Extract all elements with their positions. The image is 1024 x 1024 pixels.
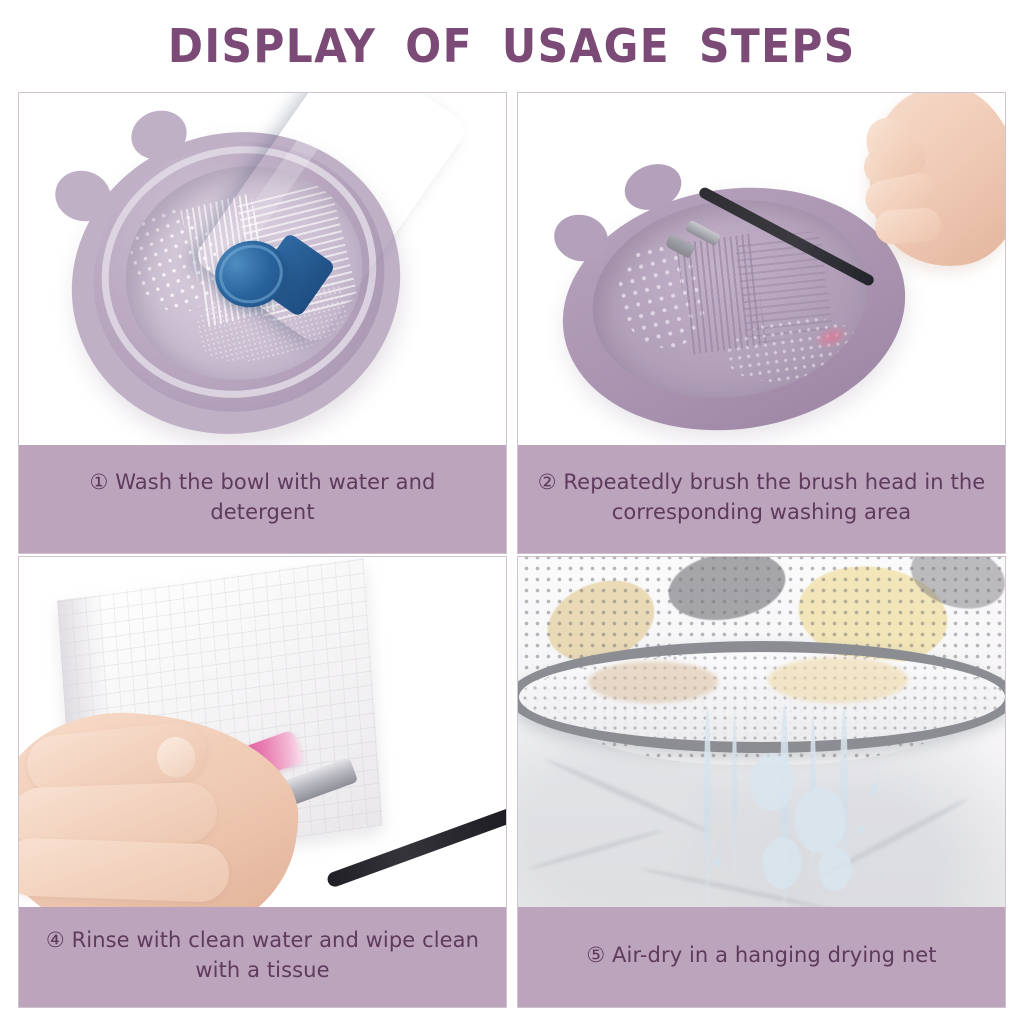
- water-stream: [704, 707, 711, 903]
- silicone-bowl-scene: [19, 93, 506, 445]
- water-splash: [750, 753, 794, 811]
- water-splash: [762, 837, 802, 889]
- water-droplet: [714, 857, 721, 867]
- step-panel-4: ④ Rinse with clean water and wipe clean …: [18, 556, 507, 1008]
- step-5-photo: [518, 557, 1005, 907]
- water-splash: [818, 847, 852, 891]
- step-2-caption-text: ② Repeatedly brush the brush head in the…: [534, 468, 989, 528]
- step-2-caption: ② Repeatedly brush the brush head in the…: [518, 445, 1005, 553]
- step-5-caption-text: ⑤ Air-dry in a hanging drying net: [534, 941, 989, 971]
- drying-net-rim: [518, 641, 1005, 753]
- infographic-page: DISPLAY OF USAGE STEPS: [0, 0, 1024, 1024]
- brushing-scene: [518, 93, 1005, 445]
- step-4-caption-text: ④ Rinse with clean water and wipe clean …: [35, 926, 490, 986]
- marble-vein: [640, 866, 837, 907]
- page-header: DISPLAY OF USAGE STEPS: [0, 0, 1024, 92]
- water-droplet: [870, 783, 878, 795]
- marble-vein: [528, 828, 664, 871]
- step-panel-2: ② Repeatedly brush the brush head in the…: [517, 92, 1006, 554]
- step-1-photo: [19, 93, 506, 445]
- step-panel-5: ⑤ Air-dry in a hanging drying net: [517, 556, 1006, 1008]
- finger: [874, 207, 942, 246]
- finger: [19, 837, 230, 903]
- step-1-caption: ① Wash the bowl with water and detergent: [19, 445, 506, 553]
- step-panel-1: ① Wash the bowl with water and detergent: [18, 92, 507, 554]
- tissue-wipe-scene: [19, 557, 506, 907]
- step-5-caption: ⑤ Air-dry in a hanging drying net: [518, 907, 1005, 1007]
- step-4-caption: ④ Rinse with clean water and wipe clean …: [19, 907, 506, 1007]
- marble-vein: [545, 757, 712, 836]
- hand-holding-tissue: [19, 693, 327, 907]
- water-splash: [794, 787, 846, 853]
- step-2-photo: [518, 93, 1005, 445]
- step-4-photo: [19, 557, 506, 907]
- steps-grid: ① Wash the bowl with water and detergent: [18, 92, 1006, 1008]
- hand-holding-brush: [829, 93, 1005, 291]
- water-droplet: [858, 825, 864, 834]
- step-1-caption-text: ① Wash the bowl with water and detergent: [35, 468, 490, 528]
- water-stream: [732, 713, 737, 877]
- page-title: DISPLAY OF USAGE STEPS: [168, 23, 856, 69]
